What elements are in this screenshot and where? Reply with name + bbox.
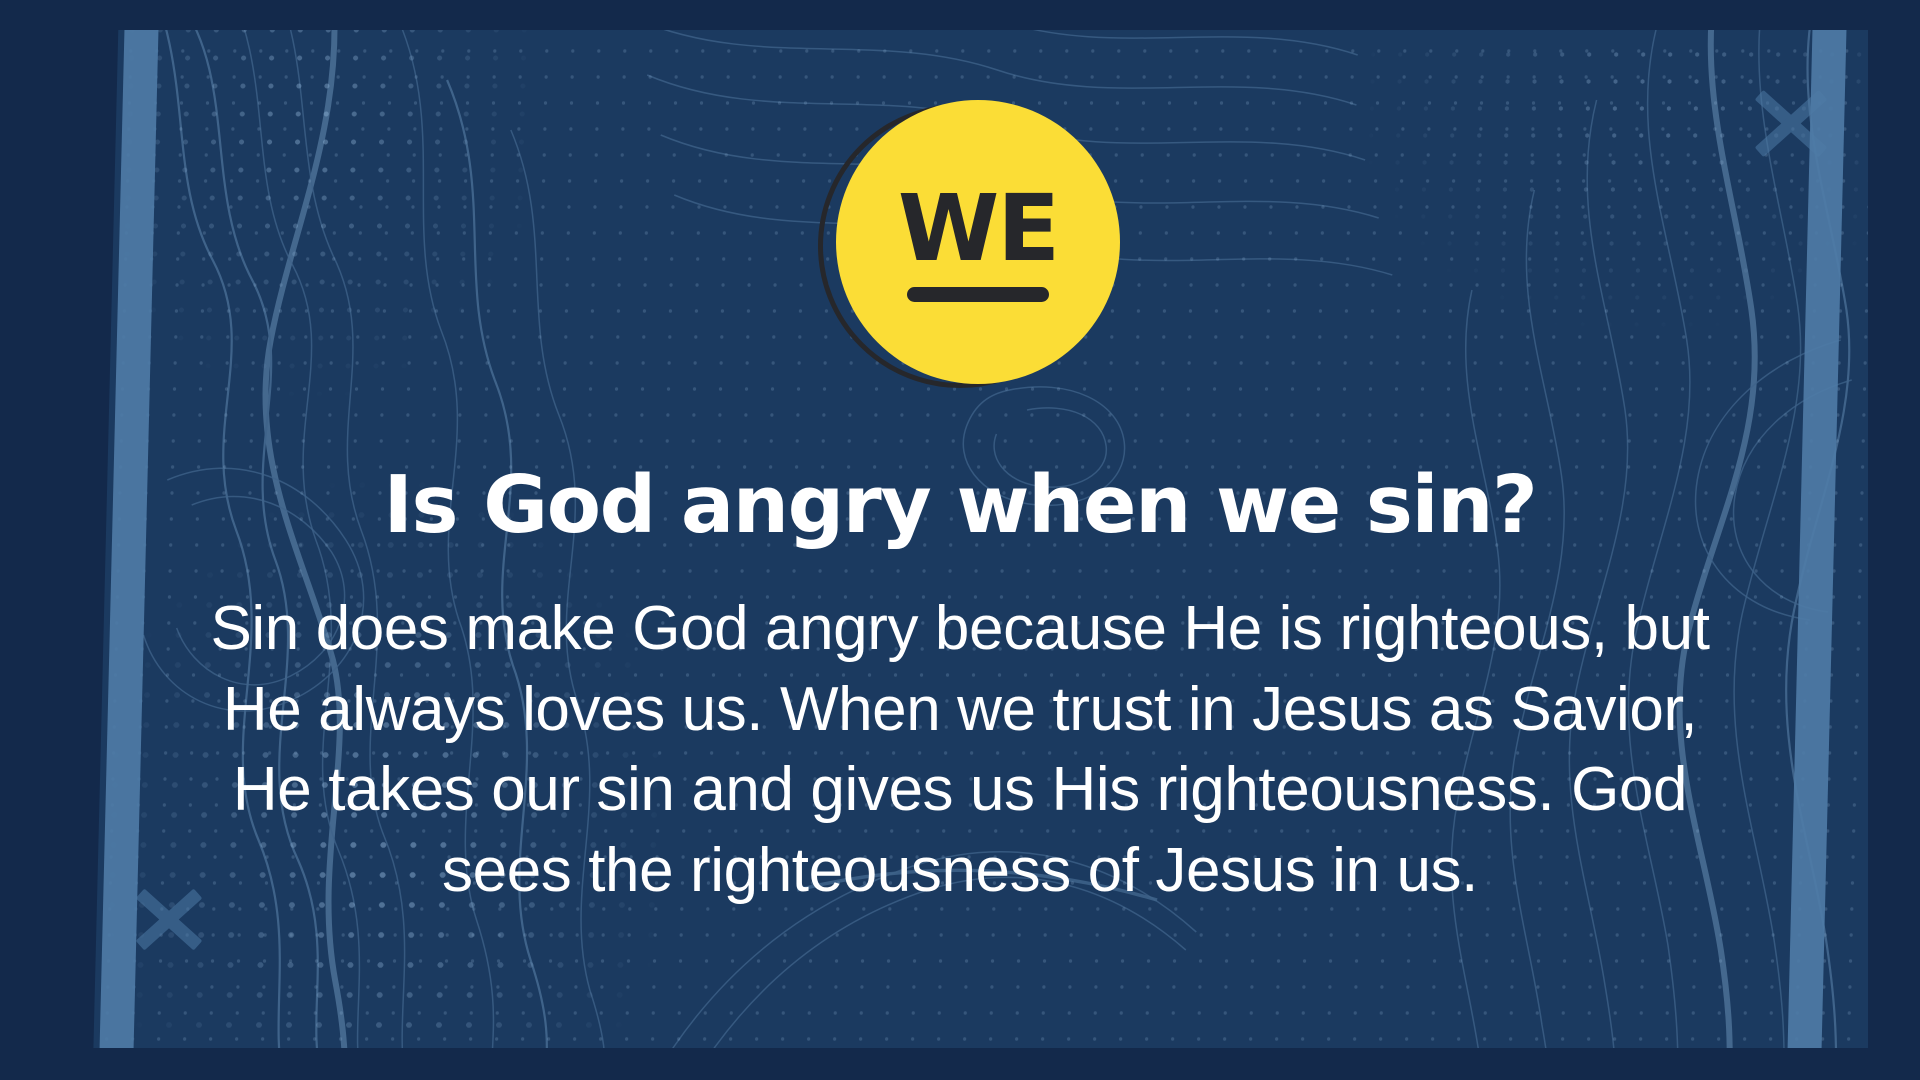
body-paragraph: Sin does make God angry because He is ri…: [210, 589, 1710, 911]
we-circle-logo-icon: WE: [810, 96, 1110, 396]
logo-wordmark: WE: [898, 183, 1058, 275]
slide-content: WE Is God angry when we sin? Sin does ma…: [0, 0, 1920, 1080]
slide-canvas: WE Is God angry when we sin? Sin does ma…: [0, 0, 1920, 1080]
page-title: Is God angry when we sin?: [210, 464, 1710, 547]
logo-underline: [907, 287, 1049, 302]
logo-disc: WE: [836, 100, 1120, 384]
